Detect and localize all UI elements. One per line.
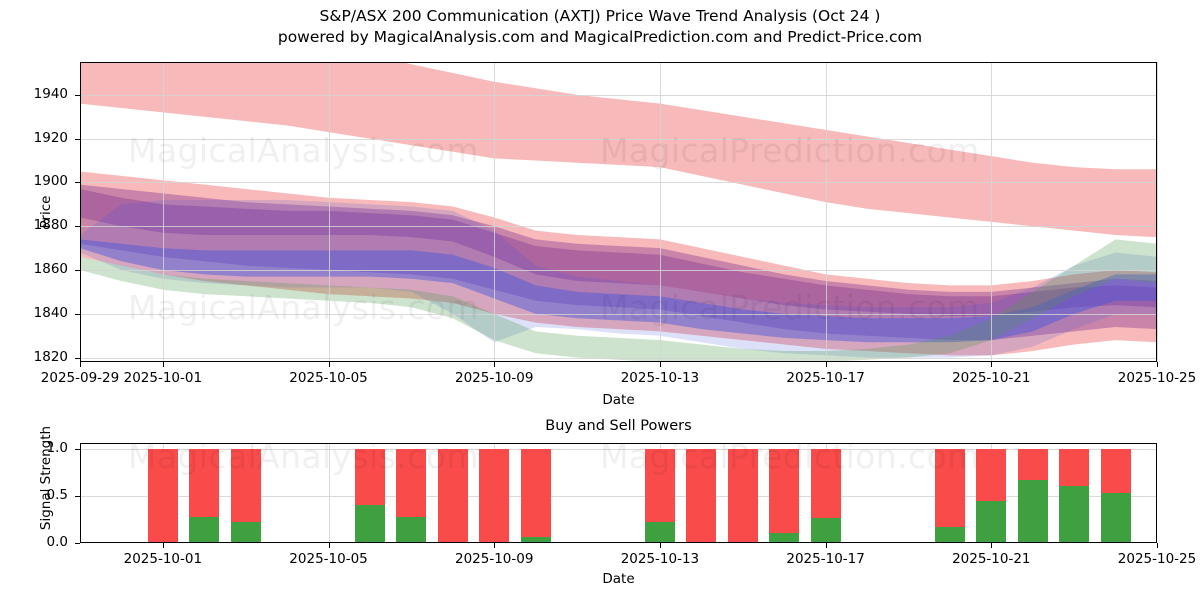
price-plot-frame <box>80 62 1157 362</box>
signal-y-tick-label: 0.0 <box>0 534 68 550</box>
signal-x-tick-label: 2025-10-17 <box>766 551 886 567</box>
price-y-tick-label: 1880 <box>0 217 68 233</box>
price-y-tick-mark <box>75 270 80 271</box>
price-y-tick-label: 1860 <box>0 261 68 277</box>
price-x-tick-label: 2025-10-25 <box>1097 370 1200 386</box>
price-x-tick-label: 2025-10-01 <box>103 370 223 386</box>
price-x-axis-title: Date <box>80 392 1157 408</box>
price-x-tick-label: 2025-10-13 <box>600 370 720 386</box>
price-x-tick-label: 2025-10-21 <box>931 370 1051 386</box>
signal-y-tick-label: 1.0 <box>0 440 68 456</box>
signal-y-tick-mark <box>75 449 80 450</box>
price-y-tick-label: 1940 <box>0 86 68 102</box>
price-y-tick-mark <box>75 314 80 315</box>
page-subtitle: powered by MagicalAnalysis.com and Magic… <box>0 27 1200 48</box>
signal-y-tick-mark <box>75 543 80 544</box>
price-x-tick-mark <box>826 362 827 367</box>
signal-y-axis-title: Signal Strength <box>38 408 54 548</box>
signal-x-tick-mark <box>163 543 164 548</box>
signal-plot-frame <box>80 443 1157 543</box>
signal-x-tick-label: 2025-10-09 <box>434 551 554 567</box>
signal-x-tick-label: 2025-10-21 <box>931 551 1051 567</box>
buy-sell-powers-chart <box>80 443 1157 543</box>
signal-chart-title: Buy and Sell Powers <box>80 418 1157 434</box>
signal-x-tick-label: 2025-10-25 <box>1097 551 1200 567</box>
price-x-tick-mark <box>329 362 330 367</box>
price-y-tick-label: 1820 <box>0 349 68 365</box>
price-x-tick-mark <box>163 362 164 367</box>
page-title: S&P/ASX 200 Communication (AXTJ) Price W… <box>0 6 1200 27</box>
signal-x-axis-title: Date <box>80 571 1157 587</box>
signal-x-tick-mark <box>1157 543 1158 548</box>
signal-x-tick-label: 2025-10-05 <box>269 551 389 567</box>
price-y-axis-title: Price <box>38 162 54 262</box>
chart-title-block: S&P/ASX 200 Communication (AXTJ) Price W… <box>0 6 1200 48</box>
signal-x-tick-mark <box>826 543 827 548</box>
price-y-tick-label: 1840 <box>0 305 68 321</box>
signal-x-tick-mark <box>991 543 992 548</box>
signal-x-tick-mark <box>494 543 495 548</box>
price-y-tick-mark <box>75 358 80 359</box>
price-x-tick-mark <box>660 362 661 367</box>
price-x-tick-label: 2025-10-09 <box>434 370 554 386</box>
price-y-tick-mark <box>75 182 80 183</box>
gridline-vertical <box>1157 62 1158 362</box>
price-y-tick-label: 1920 <box>0 130 68 146</box>
price-y-tick-label: 1900 <box>0 173 68 189</box>
signal-y-tick-mark <box>75 496 80 497</box>
price-x-tick-mark <box>1157 362 1158 367</box>
price-y-tick-mark <box>75 95 80 96</box>
signal-x-tick-mark <box>660 543 661 548</box>
price-x-tick-label: 2025-10-17 <box>766 370 886 386</box>
signal-x-tick-mark <box>329 543 330 548</box>
price-x-tick-mark <box>991 362 992 367</box>
signal-x-tick-label: 2025-10-01 <box>103 551 223 567</box>
signal-x-tick-label: 2025-10-13 <box>600 551 720 567</box>
price-x-tick-label: 2025-10-05 <box>269 370 389 386</box>
signal-y-tick-label: 0.5 <box>0 487 68 503</box>
price-y-tick-mark <box>75 139 80 140</box>
price-y-tick-mark <box>75 226 80 227</box>
price-x-tick-mark <box>80 362 81 367</box>
price-x-tick-mark <box>494 362 495 367</box>
price-wave-chart <box>80 62 1157 362</box>
